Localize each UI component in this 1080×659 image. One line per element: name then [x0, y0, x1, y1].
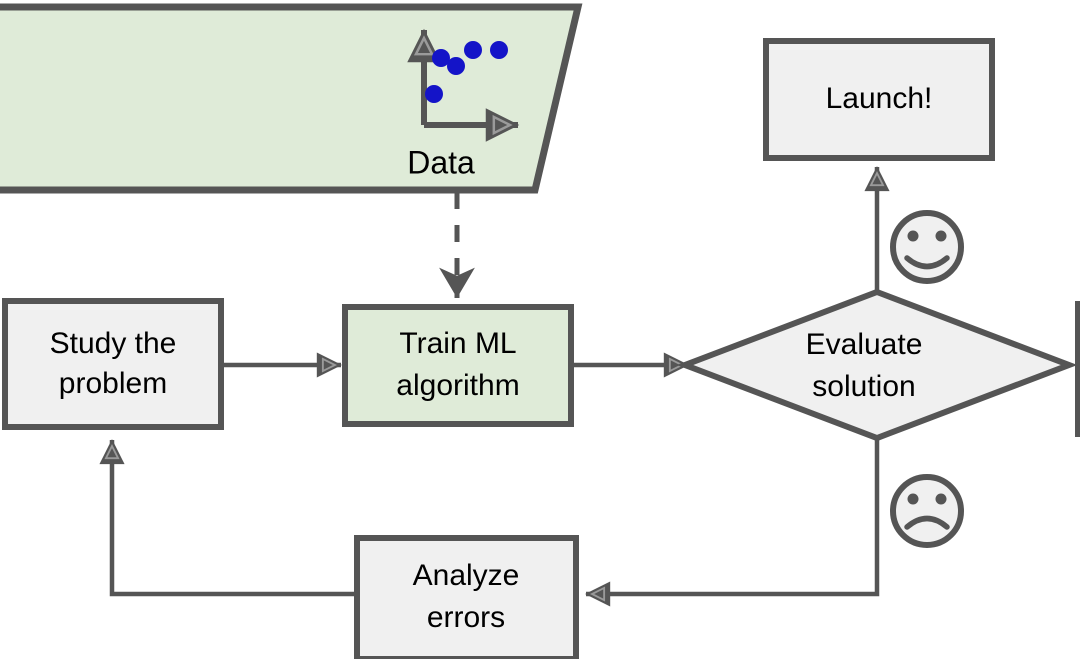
train-label-line2: algorithm — [396, 369, 519, 402]
analyze-box-shape — [357, 538, 576, 659]
data-label: Data — [407, 144, 475, 180]
analyze-label-line1: Analyze — [413, 559, 520, 592]
happy-face-icon — [893, 213, 961, 281]
data-point — [447, 57, 465, 75]
node-train-ml-algorithm[interactable]: Train ML algorithm — [345, 307, 571, 424]
evaluate-label-line1: Evaluate — [806, 328, 923, 361]
node-analyze-errors[interactable]: Analyze errors — [357, 538, 576, 659]
node-evaluate-solution[interactable]: Evaluate solution — [685, 292, 1069, 438]
data-point — [464, 41, 482, 59]
flowchart-svg: Data Study the problem Train ML algorith… — [0, 0, 1080, 659]
evaluate-label-line2: solution — [812, 370, 915, 403]
study-label-line2: problem — [59, 367, 167, 400]
study-label-line1: Study the — [50, 327, 177, 360]
sad-face-icon — [893, 477, 961, 545]
data-parallelogram-shape — [0, 7, 578, 190]
evaluate-diamond-shape — [685, 292, 1069, 438]
analyze-label-line2: errors — [427, 601, 505, 634]
edge-analyze-to-study — [112, 440, 355, 594]
edge-evaluate-to-analyze — [586, 433, 877, 594]
launch-label: Launch! — [826, 82, 933, 115]
node-study-the-problem[interactable]: Study the problem — [5, 301, 221, 427]
data-point — [425, 85, 443, 103]
study-box-shape — [5, 301, 221, 427]
train-box-shape — [345, 307, 571, 424]
node-data[interactable]: Data — [0, 7, 578, 190]
diagram-canvas: Data Study the problem Train ML algorith… — [0, 0, 1080, 659]
data-point — [490, 41, 508, 59]
node-launch[interactable]: Launch! — [766, 41, 992, 158]
train-label-line1: Train ML — [399, 327, 516, 360]
